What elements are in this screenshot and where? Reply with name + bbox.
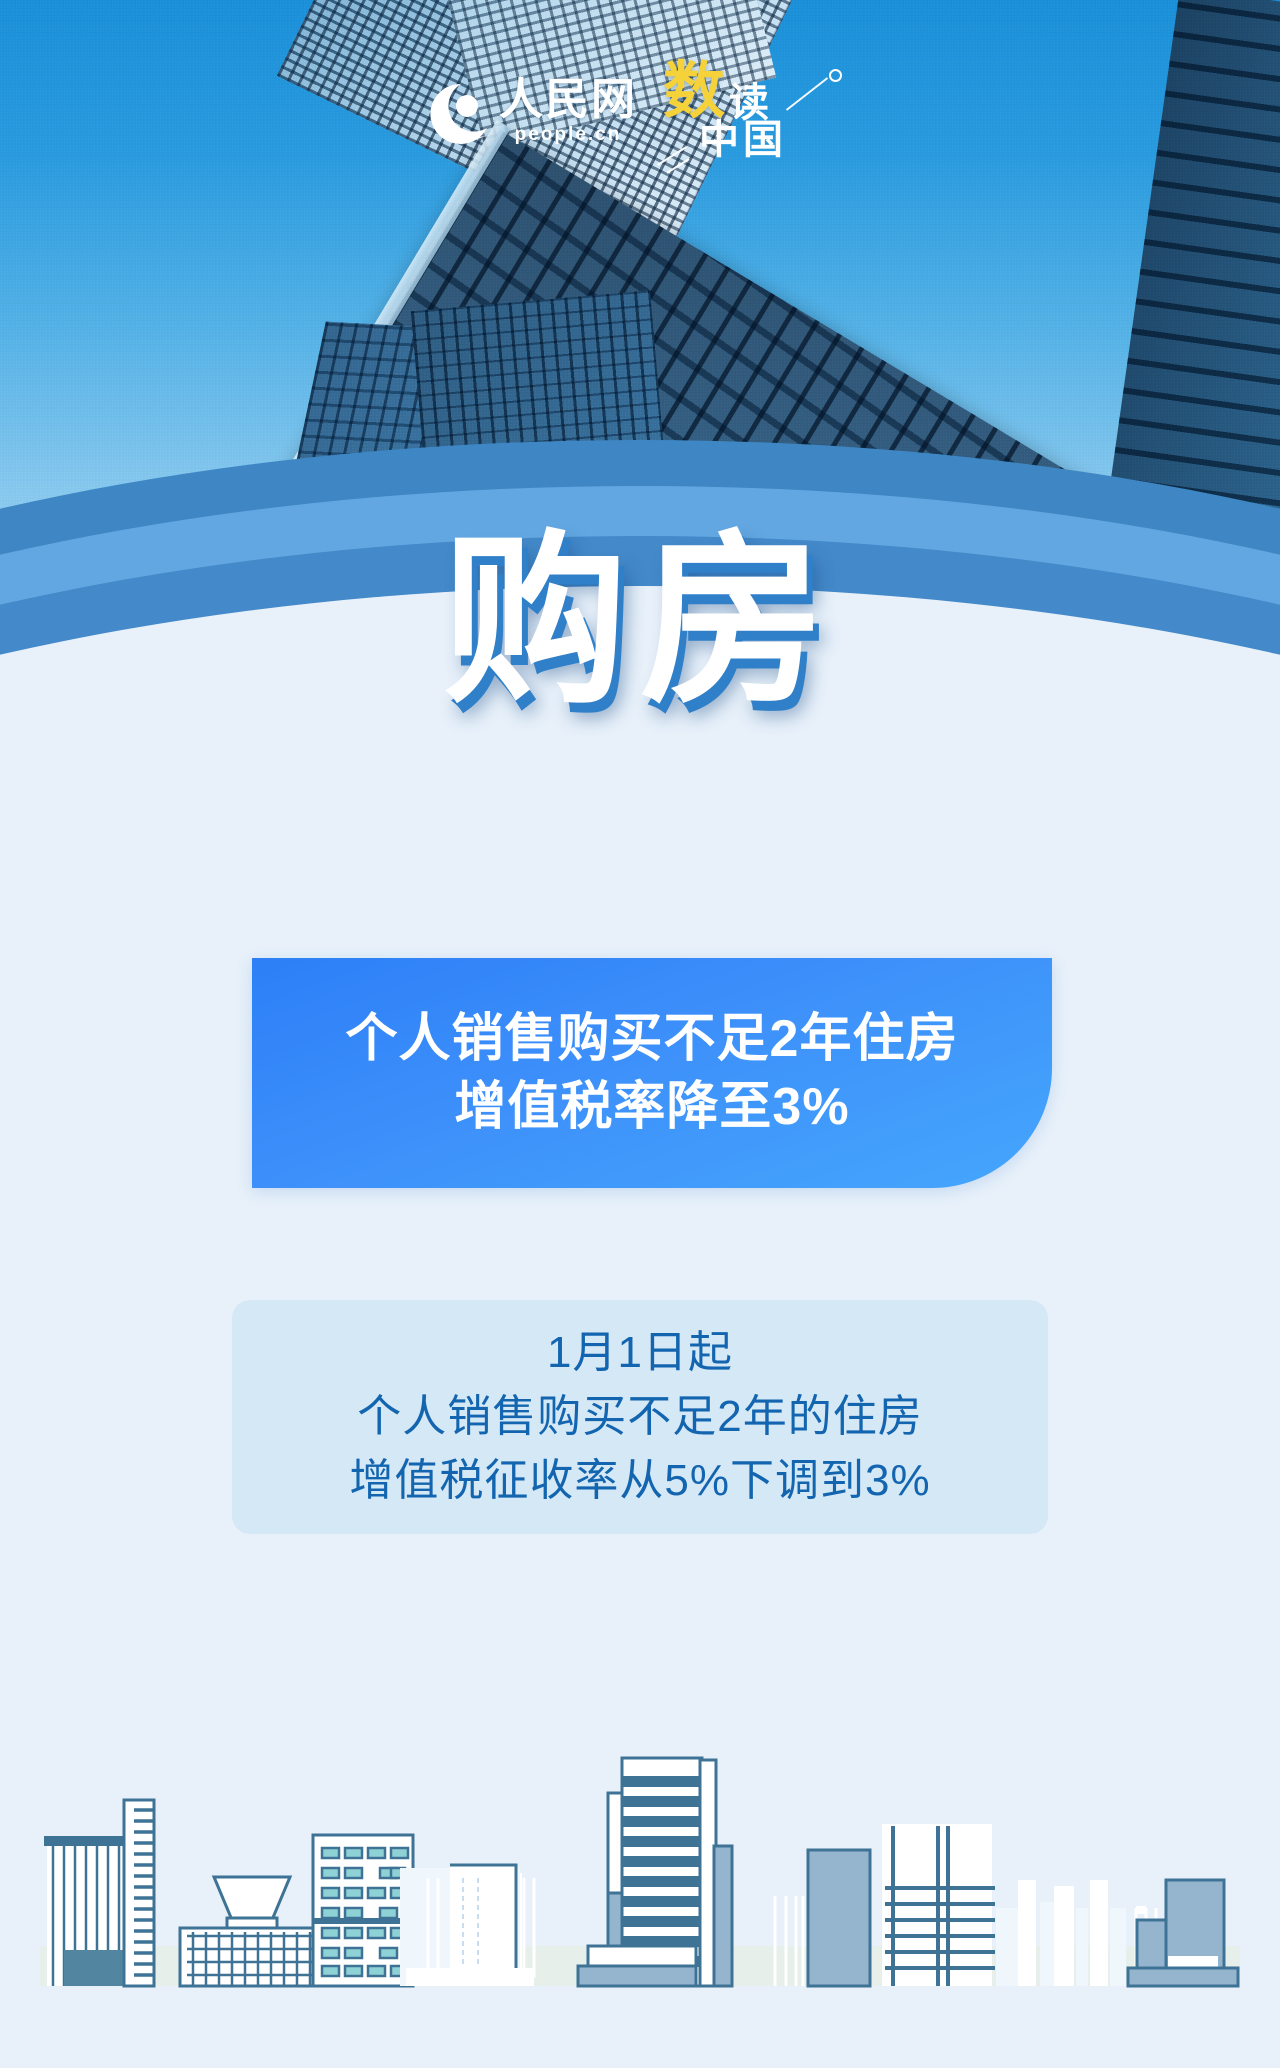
skyline-building-group-striped bbox=[578, 1758, 732, 1986]
series-word-zhongguo: 中国 bbox=[699, 119, 787, 161]
people-cn-logo[interactable]: 人民网 people.cn bbox=[427, 78, 637, 148]
logo-deco-dot bbox=[829, 69, 842, 82]
headline-line-2: 增值税率降至3% bbox=[454, 1073, 849, 1141]
people-cn-swirl-icon bbox=[427, 80, 495, 148]
series-char-shu: 数 bbox=[663, 61, 725, 123]
body-line-2: 个人销售购买不足2年的住房 bbox=[357, 1385, 922, 1449]
skyline-building-group-ghost bbox=[400, 1865, 534, 1986]
people-cn-name: 人民网 bbox=[499, 78, 637, 122]
shudu-zhongguo-logo[interactable]: 数 读 中国 bbox=[663, 59, 853, 167]
city-skyline-illustration: .o { fill:none; stroke:#3e7396; stroke-w… bbox=[0, 1668, 1280, 2068]
headline-line-1: 个人销售购买不足2年住房 bbox=[346, 1005, 959, 1073]
logo-bar: 人民网 people.cn 数 读 中国 bbox=[0, 58, 1280, 168]
skyline-building-group-left bbox=[44, 1800, 413, 1986]
body-line-3: 增值税征收率从5%下调到3% bbox=[349, 1449, 930, 1513]
body-line-1: 1月1日起 bbox=[547, 1321, 733, 1385]
skyline-building-group-gray bbox=[775, 1824, 1238, 1986]
body-text-card: 1月1日起 个人销售购买不足2年的住房 增值税征收率从5%下调到3% bbox=[232, 1300, 1048, 1534]
logo-deco-line-upper bbox=[786, 77, 828, 111]
headline-banner: 个人销售购买不足2年住房 增值税率降至3% bbox=[252, 958, 1052, 1188]
page-title: 购房 bbox=[0, 530, 1280, 715]
people-cn-domain: people.cn bbox=[515, 124, 622, 146]
